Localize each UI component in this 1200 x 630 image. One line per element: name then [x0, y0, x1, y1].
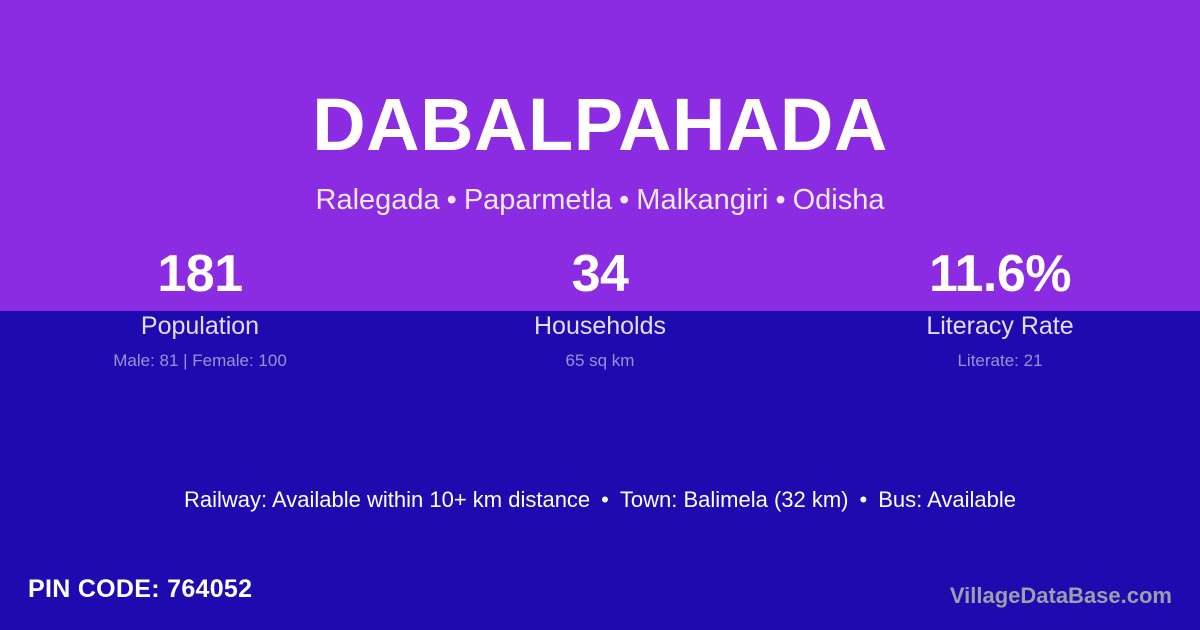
stat-value-population: 181 — [157, 245, 242, 303]
stat-label-households: Households — [534, 312, 666, 341]
stat-value-literacy-rate: 11.6% — [929, 245, 1071, 303]
info-item-bus: Bus: Available — [878, 487, 1016, 512]
connectivity-info-row: Railway: Available within 10+ km distanc… — [0, 486, 1200, 514]
stat-value-households: 34 — [572, 245, 629, 303]
village-info-card: DABALPAHADA Ralegada•Paparmetla•Malkangi… — [0, 0, 1200, 630]
breadcrumb-separator-2: • — [612, 184, 636, 216]
stat-label-literacy-rate: Literacy Rate — [926, 312, 1073, 341]
stat-households: 34 Households 65 sq km — [400, 245, 800, 385]
breadcrumb-part-state: Odisha — [793, 184, 885, 216]
stats-row: 181 Population Male: 81 | Female: 100 34… — [0, 245, 1200, 385]
breadcrumb-part-district: Malkangiri — [636, 184, 768, 216]
info-item-railway: Railway: Available within 10+ km distanc… — [184, 487, 590, 512]
stat-label-population: Population — [141, 312, 259, 341]
page-title: DABALPAHADA — [0, 83, 1200, 167]
breadcrumb-part-block: Paparmetla — [464, 184, 612, 216]
stat-population: 181 Population Male: 81 | Female: 100 — [0, 245, 400, 385]
stat-sub-literacy-rate: Literate: 21 — [957, 351, 1042, 371]
stat-sub-population: Male: 81 | Female: 100 — [113, 351, 287, 371]
info-item-town: Town: Balimela (32 km) — [620, 487, 849, 512]
info-separator-1: • — [590, 487, 620, 512]
stat-literacy-rate: 11.6% Literacy Rate Literate: 21 — [800, 245, 1200, 385]
breadcrumb-separator-3: • — [768, 184, 792, 216]
breadcrumb: Ralegada•Paparmetla•Malkangiri•Odisha — [0, 182, 1200, 218]
pin-code: PIN CODE: 764052 — [28, 574, 252, 604]
info-separator-2: • — [849, 487, 879, 512]
breadcrumb-separator-1: • — [440, 184, 464, 216]
stat-sub-households: 65 sq km — [566, 351, 635, 371]
breadcrumb-part-panchayat: Ralegada — [316, 184, 440, 216]
site-watermark: VillageDataBase.com — [950, 583, 1172, 609]
